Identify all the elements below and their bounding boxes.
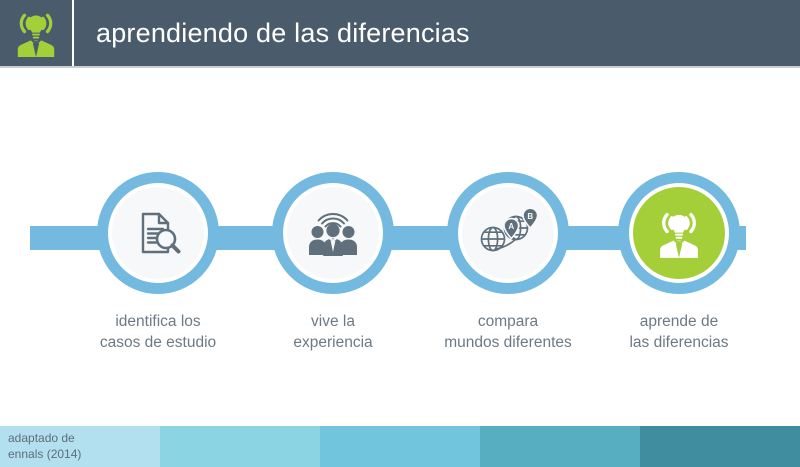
group-people-waves-icon xyxy=(304,207,362,259)
step-1-inner xyxy=(108,183,208,283)
footer-bar-5 xyxy=(640,426,800,467)
step-2-disc xyxy=(287,187,379,279)
page-header: aprendiendo de las diferencias xyxy=(0,0,800,68)
footer-bar-2 xyxy=(160,426,320,467)
step-4-inner xyxy=(629,183,729,283)
step-4-label: aprende de las diferencias xyxy=(579,311,779,353)
pin-a-label: A xyxy=(508,222,514,231)
step-1-label-line1: identifica los xyxy=(58,311,258,332)
footer-bar-4 xyxy=(480,426,640,467)
step-2-label-line1: vive la xyxy=(233,311,433,332)
step-2-label-line2: experiencia xyxy=(233,332,433,353)
step-4-label-line2: las diferencias xyxy=(579,332,779,353)
process-diagram: A B xyxy=(0,68,800,418)
step-4-disc xyxy=(633,187,725,279)
two-globes-map-pins-icon: A B xyxy=(477,206,539,260)
process-step-4[interactable] xyxy=(618,172,740,294)
document-magnifier-icon xyxy=(130,205,186,261)
credit-line2: ennals (2014) xyxy=(8,446,81,462)
page-title: aprendiendo de las diferencias xyxy=(74,18,470,49)
step-1-label-line2: casos de estudio xyxy=(58,332,258,353)
process-step-3[interactable]: A B xyxy=(447,172,569,294)
person-lightbulb-waves-icon xyxy=(10,7,62,59)
attribution-credit: adaptado de ennals (2014) xyxy=(8,430,81,462)
step-4-label-line1: aprende de xyxy=(579,311,779,332)
credit-line1: adaptado de xyxy=(8,430,81,446)
person-lightbulb-waves-icon xyxy=(652,206,706,260)
step-2-label: vive la experiencia xyxy=(233,311,433,353)
step-1-disc xyxy=(112,187,204,279)
footer-bar-3 xyxy=(320,426,480,467)
step-3-label: compara mundos diferentes xyxy=(408,311,608,353)
step-3-label-line1: compara xyxy=(408,311,608,332)
page-footer: adaptado de ennals (2014) xyxy=(0,426,800,467)
step-3-disc: A B xyxy=(462,187,554,279)
step-3-label-line2: mundos diferentes xyxy=(408,332,608,353)
footer-bar-1: adaptado de ennals (2014) xyxy=(0,426,160,467)
pin-b-label: B xyxy=(527,212,533,221)
process-step-1[interactable] xyxy=(97,172,219,294)
process-step-2[interactable] xyxy=(272,172,394,294)
brand-logo xyxy=(0,0,72,66)
step-1-label: identifica los casos de estudio xyxy=(58,311,258,353)
step-3-inner: A B xyxy=(458,183,558,283)
step-2-inner xyxy=(283,183,383,283)
